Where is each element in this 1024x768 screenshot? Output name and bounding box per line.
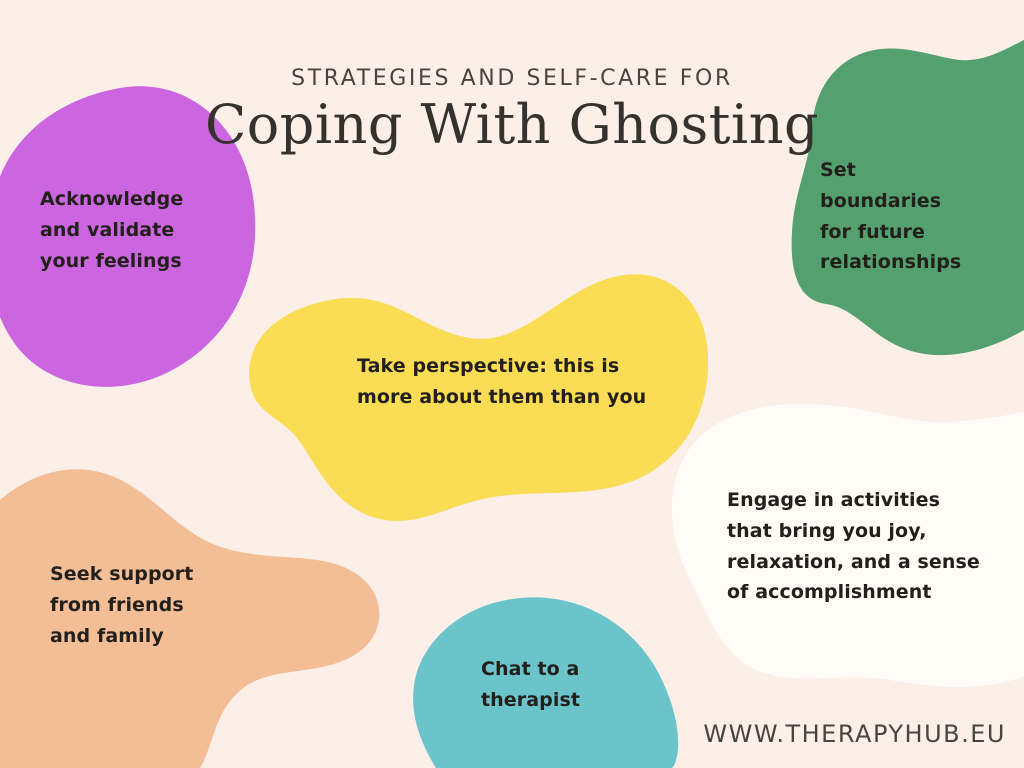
page-title: Coping With Ghosting — [0, 93, 1024, 156]
website-url: WWW.THERAPYHUB.EU — [703, 720, 1006, 748]
tip-label-support: Seek support from friends and family — [50, 559, 193, 651]
tip-label-perspective: Take perspective: this is more about the… — [357, 351, 646, 413]
tip-label-therapist: Chat to a therapist — [481, 654, 580, 716]
poster-canvas: STRATEGIES AND SELF-CARE FOR Coping With… — [0, 0, 1024, 768]
tip-label-boundaries: Set boundaries for future relationships — [820, 155, 961, 278]
eyebrow-text: STRATEGIES AND SELF-CARE FOR — [0, 66, 1024, 91]
poster-header: STRATEGIES AND SELF-CARE FOR Coping With… — [0, 66, 1024, 156]
tip-label-engage: Engage in activities that bring you joy,… — [727, 485, 980, 608]
tip-label-acknowledge: Acknowledge and validate your feelings — [40, 184, 183, 276]
